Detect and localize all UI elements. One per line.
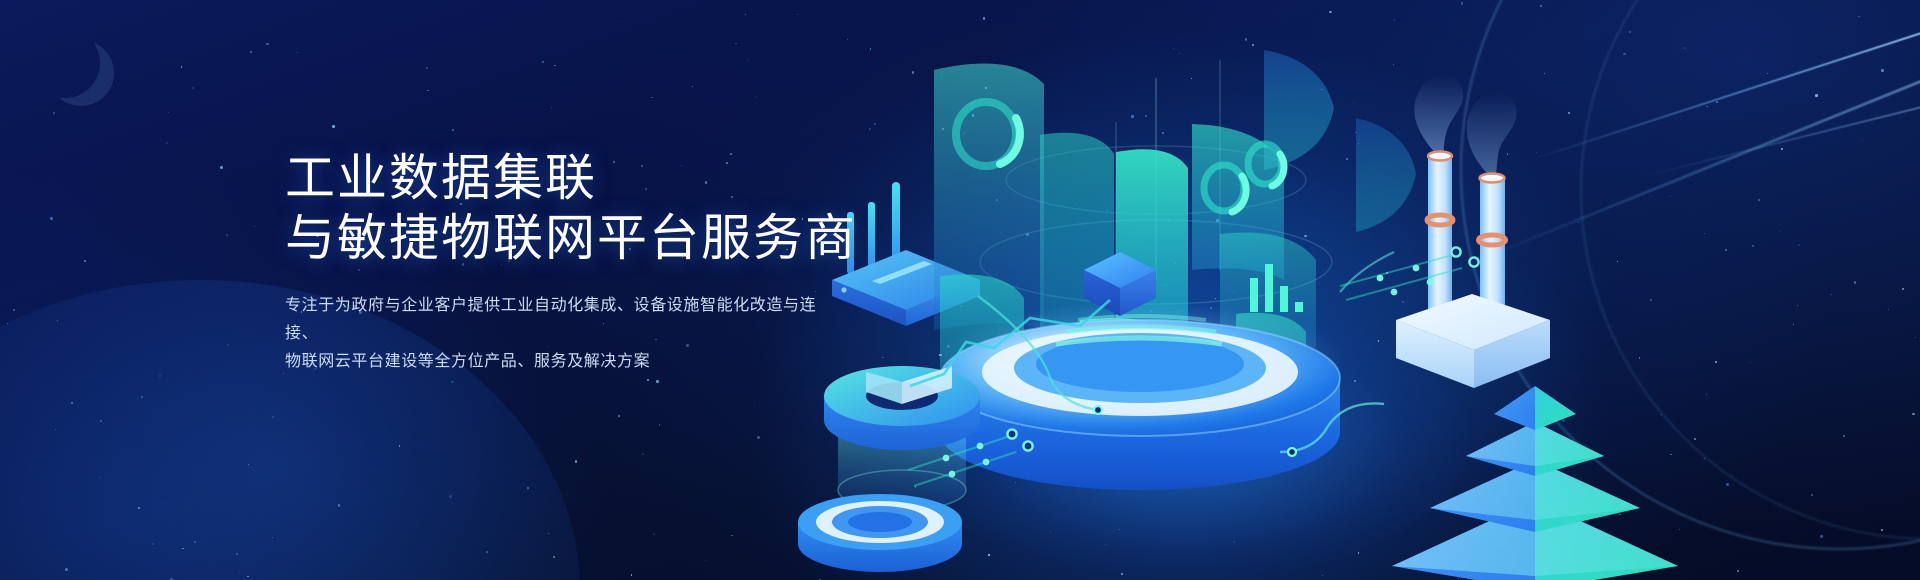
- subtext-line-2: 物联网云平台建设等全方位产品、服务及解决方案: [285, 348, 825, 376]
- hero-illustration: [780, 0, 1920, 580]
- hero-copy: 工业数据集联 与敏捷物联网平台服务商 专注于为政府与企业客户提供工业自动化集成、…: [285, 148, 925, 376]
- stepped-pyramid-icon: [1390, 380, 1680, 580]
- subtext: 专注于为政府与企业客户提供工业自动化集成、设备设施智能化改造与连接、 物联网云平…: [285, 292, 825, 376]
- hero-banner: 工业数据集联 与敏捷物联网平台服务商 专注于为政府与企业客户提供工业自动化集成、…: [0, 0, 1920, 580]
- factory-chimney-icon: [1380, 62, 1610, 382]
- small-cube-icon: [1080, 246, 1160, 324]
- crescent-moon-icon: [30, 28, 100, 98]
- headline-line-1: 工业数据集联: [285, 148, 925, 208]
- circular-pad-icon: [790, 478, 970, 580]
- subtext-line-1: 专注于为政府与企业客户提供工业自动化集成、设备设施智能化改造与连接、: [285, 292, 825, 348]
- headline-line-2: 与敏捷物联网平台服务商: [285, 208, 925, 268]
